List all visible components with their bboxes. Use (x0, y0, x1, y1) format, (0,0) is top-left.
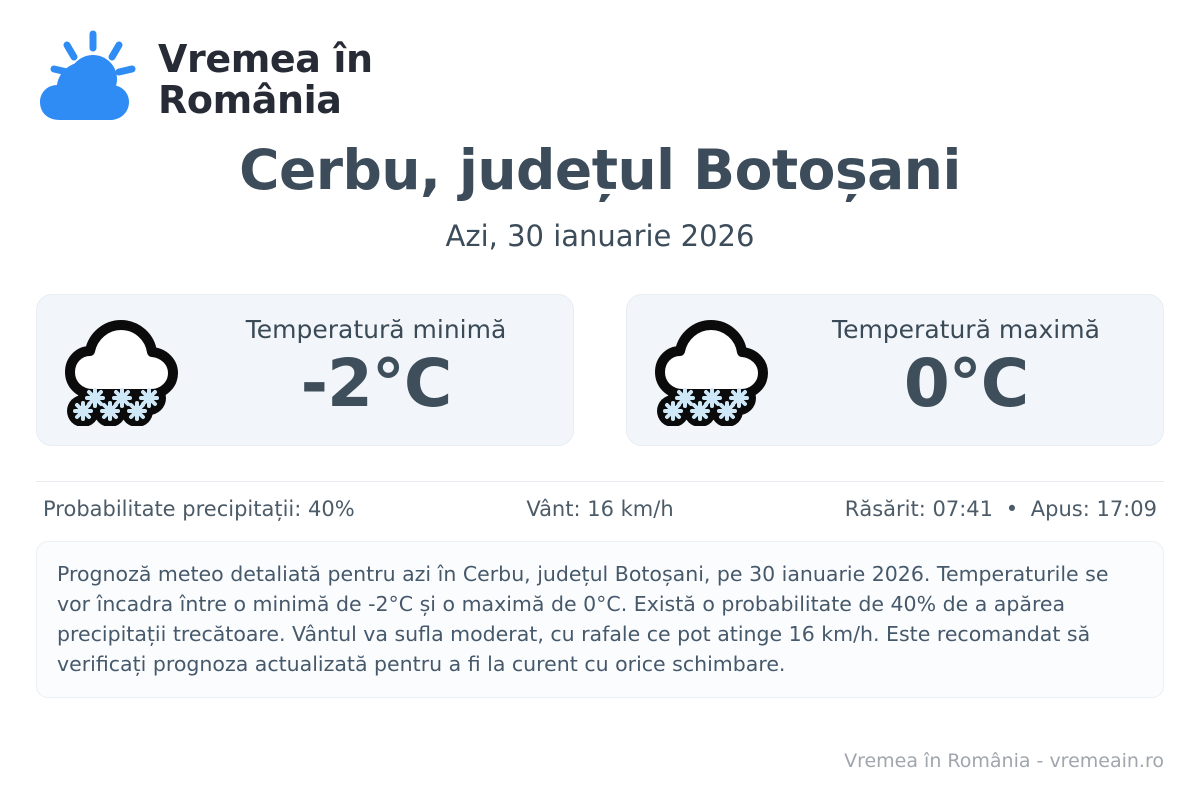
max-temperature-value: 0°C (904, 347, 1028, 421)
brand-line-2: România (158, 80, 373, 121)
min-temperature-card: Temperatură minimă -2°C (36, 294, 574, 446)
min-temperature-body: Temperatură minimă -2°C (205, 315, 547, 421)
min-temperature-label: Temperatură minimă (246, 315, 507, 345)
temperature-cards: Temperatură minimă -2°C (36, 294, 1164, 446)
sunset-value: Apus: 17:09 (1031, 497, 1157, 521)
max-temperature-label: Temperatură maximă (832, 315, 1100, 345)
wind-stat: Vânt: 16 km/h (414, 497, 785, 521)
page-title: Cerbu, județul Botoșani (36, 140, 1164, 201)
max-temperature-body: Temperatură maximă 0°C (795, 315, 1137, 421)
snow-cloud-icon (63, 314, 183, 426)
weather-page: Vremea în România Cerbu, județul Botoșan… (0, 0, 1200, 800)
forecast-description: Prognoză meteo detaliată pentru azi în C… (36, 541, 1164, 699)
brand-line-1: Vremea în (158, 39, 373, 80)
snow-cloud-icon (653, 314, 773, 426)
footer-credit: Vremea în România - vremeain.ro (844, 750, 1164, 772)
site-brand: Vremea în România (36, 0, 1164, 112)
sun-times-separator: • (1000, 497, 1024, 521)
stats-divider (36, 481, 1164, 482)
max-temperature-card: Temperatură maximă 0°C (626, 294, 1164, 446)
precipitation-stat: Probabilitate precipitații: 40% (36, 497, 414, 521)
sun-behind-cloud-icon (36, 28, 140, 132)
sun-times-stat: Răsărit: 07:41 • Apus: 17:09 (786, 497, 1164, 521)
brand-title: Vremea în România (158, 39, 373, 120)
min-temperature-value: -2°C (301, 347, 452, 421)
date-subtitle: Azi, 30 ianuarie 2026 (36, 219, 1164, 253)
sunrise-value: Răsărit: 07:41 (845, 497, 993, 521)
weather-stats: Probabilitate precipitații: 40% Vânt: 16… (36, 486, 1164, 532)
